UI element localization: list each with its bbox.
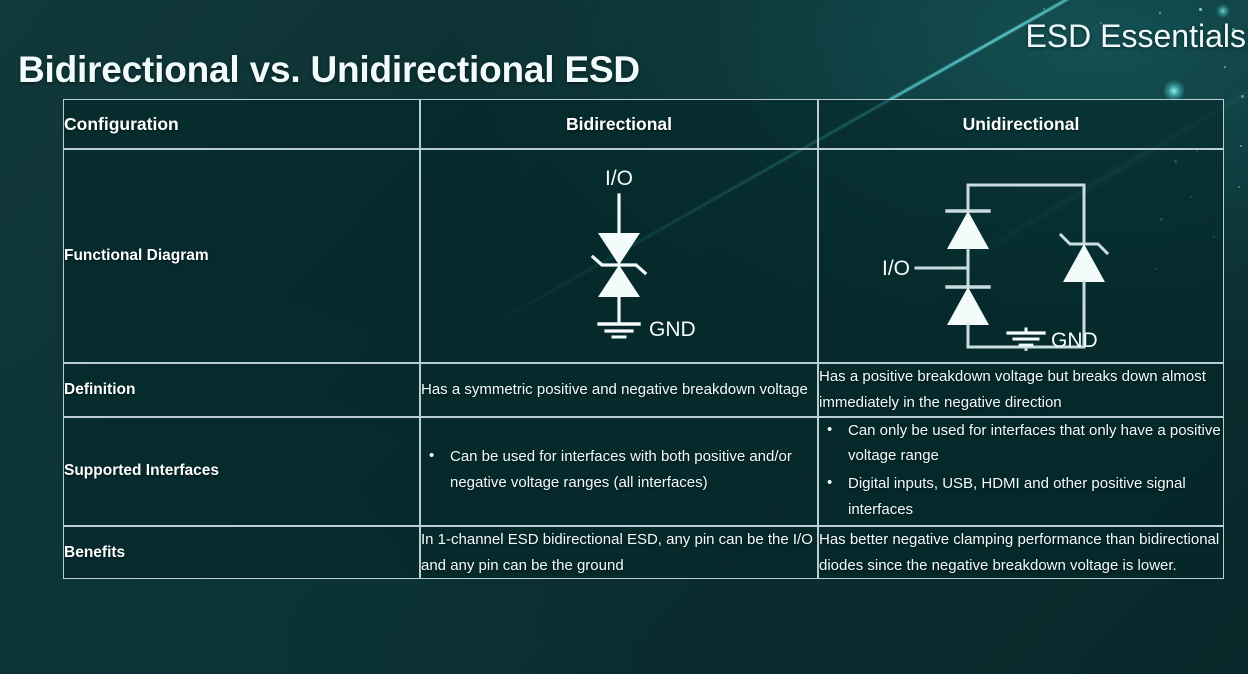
comparison-table: Configuration Bidirectional Unidirection… xyxy=(63,99,1224,579)
particle-glow-icon xyxy=(1216,4,1230,18)
cell-bidirectional-supported-interfaces: Can be used for interfaces with both pos… xyxy=(420,417,818,526)
cell-unidirectional-functional-diagram: I/O GND xyxy=(818,149,1224,363)
io-label: I/O xyxy=(605,167,633,190)
page-title: Bidirectional vs. Unidirectional ESD xyxy=(18,49,640,91)
row-label-supported-interfaces: Supported Interfaces xyxy=(63,417,420,526)
cell-unidirectional-benefits: Has better negative clamping performance… xyxy=(818,526,1224,580)
table-body: Functional Diagram xyxy=(63,149,1224,579)
column-header-bidirectional: Bidirectional xyxy=(420,99,818,149)
table-header-row: Configuration Bidirectional Unidirection… xyxy=(63,99,1224,149)
list-item: Can be used for interfaces with both pos… xyxy=(442,444,817,496)
table-row: Definition Has a symmetric positive and … xyxy=(63,363,1224,417)
particle-dot-icon xyxy=(1224,66,1226,68)
gnd-label: GND xyxy=(1051,329,1098,351)
column-header-unidirectional: Unidirectional xyxy=(818,99,1224,149)
column-header-configuration: Configuration xyxy=(63,99,420,149)
particle-dot-icon xyxy=(1159,12,1161,14)
cell-unidirectional-supported-interfaces: Can only be used for interfaces that onl… xyxy=(818,417,1224,526)
gnd-label: GND xyxy=(649,318,696,341)
table-header: Configuration Bidirectional Unidirection… xyxy=(63,99,1224,149)
table-row: Functional Diagram xyxy=(63,149,1224,363)
cell-bidirectional-functional-diagram: I/O GND xyxy=(420,149,818,363)
particle-dot-icon xyxy=(1241,95,1244,98)
bidirectional-tvs-diode-schematic: I/O GND xyxy=(421,161,817,351)
slide-kicker-label: ESD Essentials xyxy=(1025,18,1246,55)
bullet-list: Can be used for interfaces with both pos… xyxy=(421,444,817,496)
slide-canvas: Bidirectional vs. Unidirectional ESD ESD… xyxy=(0,0,1248,674)
list-item: Can only be used for interfaces that onl… xyxy=(840,418,1223,470)
table-row: Benefits In 1-channel ESD bidirectional … xyxy=(63,526,1224,580)
cell-bidirectional-benefits: In 1-channel ESD bidirectional ESD, any … xyxy=(420,526,818,580)
particle-dot-icon xyxy=(1199,8,1202,11)
row-label-benefits: Benefits xyxy=(63,526,420,580)
cell-unidirectional-definition: Has a positive breakdown voltage but bre… xyxy=(818,363,1224,417)
particle-dot-icon xyxy=(1240,145,1242,147)
bullet-list: Can only be used for interfaces that onl… xyxy=(819,418,1223,523)
particle-dot-icon xyxy=(1238,186,1240,188)
io-label: I/O xyxy=(882,257,910,280)
table-row: Supported Interfaces Can be used for int… xyxy=(63,417,1224,526)
particle-dot-icon xyxy=(1043,8,1045,10)
row-label-definition: Definition xyxy=(63,363,420,417)
cell-bidirectional-definition: Has a symmetric positive and negative br… xyxy=(420,363,818,417)
row-label-functional-diagram: Functional Diagram xyxy=(63,149,420,363)
list-item: Digital inputs, USB, HDMI and other posi… xyxy=(840,471,1223,523)
unidirectional-tvs-diode-schematic: I/O GND xyxy=(819,161,1223,351)
